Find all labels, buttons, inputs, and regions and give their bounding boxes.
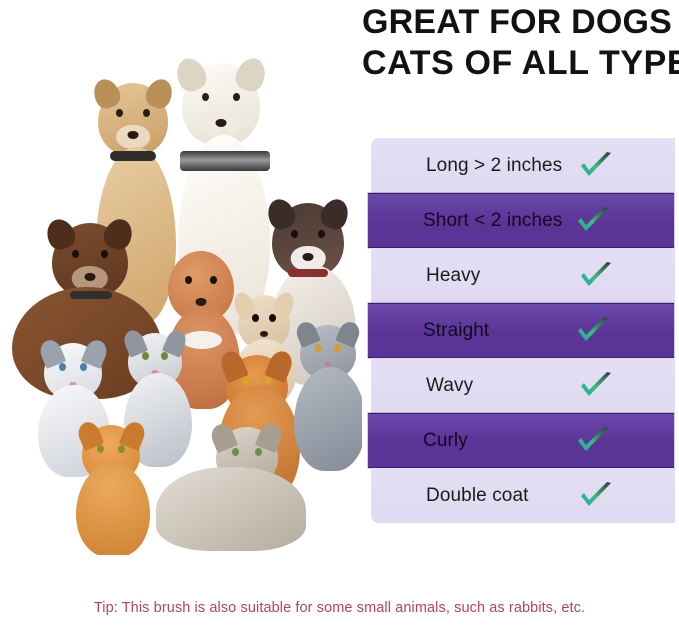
dog-tan-collar [110, 151, 156, 161]
check-icon [579, 151, 613, 181]
dog-eye [318, 230, 325, 238]
list-item-label: Straight [423, 320, 489, 342]
dog-eye [116, 109, 123, 117]
dog-eye [143, 109, 150, 117]
dog-chocolate-collar [70, 291, 112, 299]
dog-collie-collar [288, 269, 328, 277]
headline-line-1: GREAT FOR DOGS & [362, 2, 677, 43]
cat-eye [118, 445, 125, 453]
dog-tan [98, 83, 168, 155]
dog-nose [128, 131, 139, 139]
dog-ear-icon [172, 55, 210, 95]
dog-eye [252, 314, 259, 322]
dog-nose [216, 119, 227, 127]
cat-eye [334, 344, 341, 352]
list-item-label: Wavy [426, 375, 473, 397]
list-item-label: Heavy [426, 265, 480, 287]
dog-eye [101, 250, 108, 258]
dog-white-lab [182, 63, 260, 145]
dog-eye [210, 276, 217, 284]
dog-nose [196, 298, 207, 306]
cat-british-shorthair-body [294, 367, 362, 471]
cat-eye [59, 363, 66, 371]
cat-eye [315, 344, 322, 352]
dog-nose [303, 253, 314, 261]
check-icon [576, 316, 610, 346]
dog-eye [185, 276, 192, 284]
check-icon [576, 426, 610, 456]
dog-chocolate [52, 223, 128, 297]
cat-orange-tabby-body [76, 463, 150, 555]
dog-eye [202, 93, 209, 101]
tip-note: Tip: This brush is also suitable for som… [0, 600, 679, 616]
list-item[interactable]: Wavy [371, 358, 675, 413]
cat-eye [255, 448, 262, 456]
cat-siberian-body [156, 467, 306, 551]
cat-eye [161, 352, 168, 360]
dog-ear-icon [43, 215, 79, 253]
dog-nose [260, 331, 268, 337]
dog-ear-icon [318, 195, 353, 232]
list-item-label: Long > 2 inches [426, 155, 562, 177]
dog-eye [291, 230, 298, 238]
cat-eye [265, 377, 272, 385]
dog-eye [72, 250, 79, 258]
page-title: GREAT FOR DOGS & CATS OF ALL TYPES [362, 2, 677, 84]
dog-ear-icon [143, 75, 177, 111]
check-icon [579, 481, 613, 511]
dog-eye [269, 314, 276, 322]
list-item[interactable]: Double coat [371, 468, 675, 523]
list-item-label: Short < 2 inches [423, 210, 562, 232]
cat-eye [242, 377, 249, 385]
coat-type-list: Long > 2 inches Short < 2 inches [368, 138, 674, 523]
dog-ear-icon [231, 55, 269, 95]
cat-eye [142, 352, 149, 360]
list-item[interactable]: Straight [368, 303, 674, 358]
list-item-label: Curly [423, 430, 468, 452]
dog-eye [233, 93, 240, 101]
list-item[interactable]: Long > 2 inches [371, 138, 675, 193]
list-item-label: Double coat [426, 485, 529, 507]
pet-group-photo [0, 55, 362, 555]
list-item[interactable]: Heavy [371, 248, 675, 303]
dog-poodle-bib [182, 331, 222, 349]
dog-nose [85, 273, 96, 281]
cat-eye [97, 445, 104, 453]
cat-eye [232, 448, 239, 456]
check-icon [579, 371, 613, 401]
list-item[interactable]: Short < 2 inches [368, 193, 674, 248]
cat-eye [80, 363, 87, 371]
check-icon [579, 261, 613, 291]
headline-line-2: CATS OF ALL TYPES [362, 43, 677, 84]
list-item[interactable]: Curly [368, 413, 674, 468]
dog-ear-icon [89, 75, 123, 111]
check-icon [576, 206, 610, 236]
dog-harness [180, 151, 270, 171]
